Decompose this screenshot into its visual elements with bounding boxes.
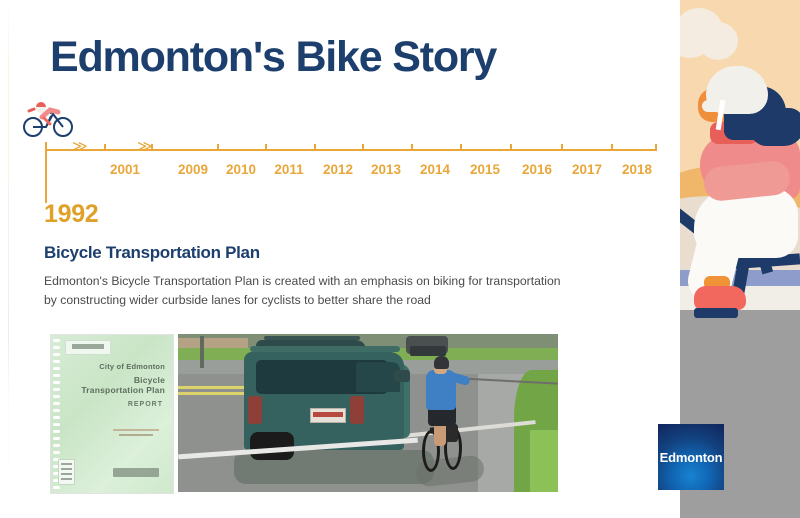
timeline-tick <box>104 144 106 151</box>
document-tab <box>65 340 111 355</box>
timeline-tick <box>655 144 657 151</box>
document-footer-logo <box>113 468 159 477</box>
timeline-tick <box>265 144 267 151</box>
timeline-tick <box>561 144 563 151</box>
spiral-ring <box>53 486 60 489</box>
document-line-3: REPORT <box>128 401 163 408</box>
timeline-year-2015[interactable]: 2015 <box>470 162 500 177</box>
cyclist-photo[interactable] <box>178 334 558 492</box>
photo-grass <box>530 430 558 492</box>
photo-van-mirror <box>394 370 410 382</box>
timeline-tick <box>510 144 512 151</box>
photo-cyclist-helmet <box>434 356 449 369</box>
spiral-ring <box>53 339 60 342</box>
photo-roof-rack <box>264 336 360 340</box>
timeline-break-mark: ≫ <box>137 140 151 155</box>
spiral-ring <box>53 367 60 370</box>
timeline: ≫≫ 2001200920102011201220132014201520162… <box>0 100 680 190</box>
entry-headline: Bicycle Transportation Plan <box>44 243 260 263</box>
timeline-tick <box>151 144 153 151</box>
timeline-year-2018[interactable]: 2018 <box>622 162 652 177</box>
page-title: Edmonton's Bike Story <box>50 33 496 82</box>
document-signature <box>113 429 159 431</box>
timeline-year-2017[interactable]: 2017 <box>572 162 602 177</box>
timeline-year-2012[interactable]: 2012 <box>323 162 353 177</box>
timeline-year-2013[interactable]: 2013 <box>371 162 401 177</box>
timeline-year-2009[interactable]: 2009 <box>178 162 208 177</box>
spiral-ring <box>53 444 60 447</box>
document-line-2: Bicycle Transportation Plan <box>69 375 165 395</box>
spiral-ring <box>53 430 60 433</box>
document-corner-label <box>58 459 75 485</box>
document-thumbnail[interactable]: City of Edmonton Bicycle Transportation … <box>50 334 174 494</box>
timeline-tick <box>411 144 413 151</box>
spiral-ring <box>53 416 60 419</box>
spiral-ring <box>53 388 60 391</box>
cyclist-illustration <box>680 0 800 420</box>
spiral-ring <box>53 451 60 454</box>
spiral-ring <box>53 402 60 405</box>
photo-pole <box>200 336 204 368</box>
spiral-ring <box>53 423 60 426</box>
photo-roof-rack <box>250 346 400 352</box>
spiral-ring <box>53 437 60 440</box>
edmonton-logo: Edmonton <box>658 424 724 490</box>
hair-shape <box>750 108 800 146</box>
timeline-year-2016[interactable]: 2016 <box>522 162 552 177</box>
timeline-year-2011[interactable]: 2011 <box>274 162 303 177</box>
photo-taillight <box>248 396 262 424</box>
illustration-figure <box>680 60 800 380</box>
spiral-ring <box>53 346 60 349</box>
photo-taillight <box>350 396 364 424</box>
timeline-stem <box>45 149 47 203</box>
photo-fence <box>178 338 248 348</box>
timeline-year-2014[interactable]: 2014 <box>420 162 450 177</box>
document-signature <box>119 434 153 436</box>
spiral-ring <box>53 409 60 412</box>
bike-pedal-icon <box>694 308 738 318</box>
spiral-ring <box>53 395 60 398</box>
spiral-ring <box>53 353 60 356</box>
timeline-tick <box>217 144 219 151</box>
spiral-ring <box>53 360 60 363</box>
photo-distant-vehicle <box>410 346 446 356</box>
infographic-page: Edmonton Edmonton's Bike Story ≫≫ 200120… <box>0 0 800 518</box>
timeline-year-2001[interactable]: 2001 <box>110 162 140 177</box>
spiral-ring <box>53 381 60 384</box>
entry-year: 1992 <box>44 200 98 229</box>
timeline-tick <box>611 144 613 151</box>
timeline-tick <box>362 144 364 151</box>
shoe-icon <box>694 286 746 310</box>
edmonton-logo-label: Edmonton <box>660 450 723 465</box>
entry-body-text: Edmonton's Bicycle Transportation Plan i… <box>44 272 564 310</box>
document-line-1: City of Edmonton <box>87 362 165 371</box>
timeline-year-2010[interactable]: 2010 <box>226 162 256 177</box>
spiral-ring <box>53 374 60 377</box>
timeline-tick <box>314 144 316 151</box>
timeline-tick <box>460 144 462 151</box>
timeline-break-mark: ≫ <box>72 140 86 155</box>
left-edge-rule <box>8 0 9 518</box>
photo-license-plate <box>310 408 346 423</box>
